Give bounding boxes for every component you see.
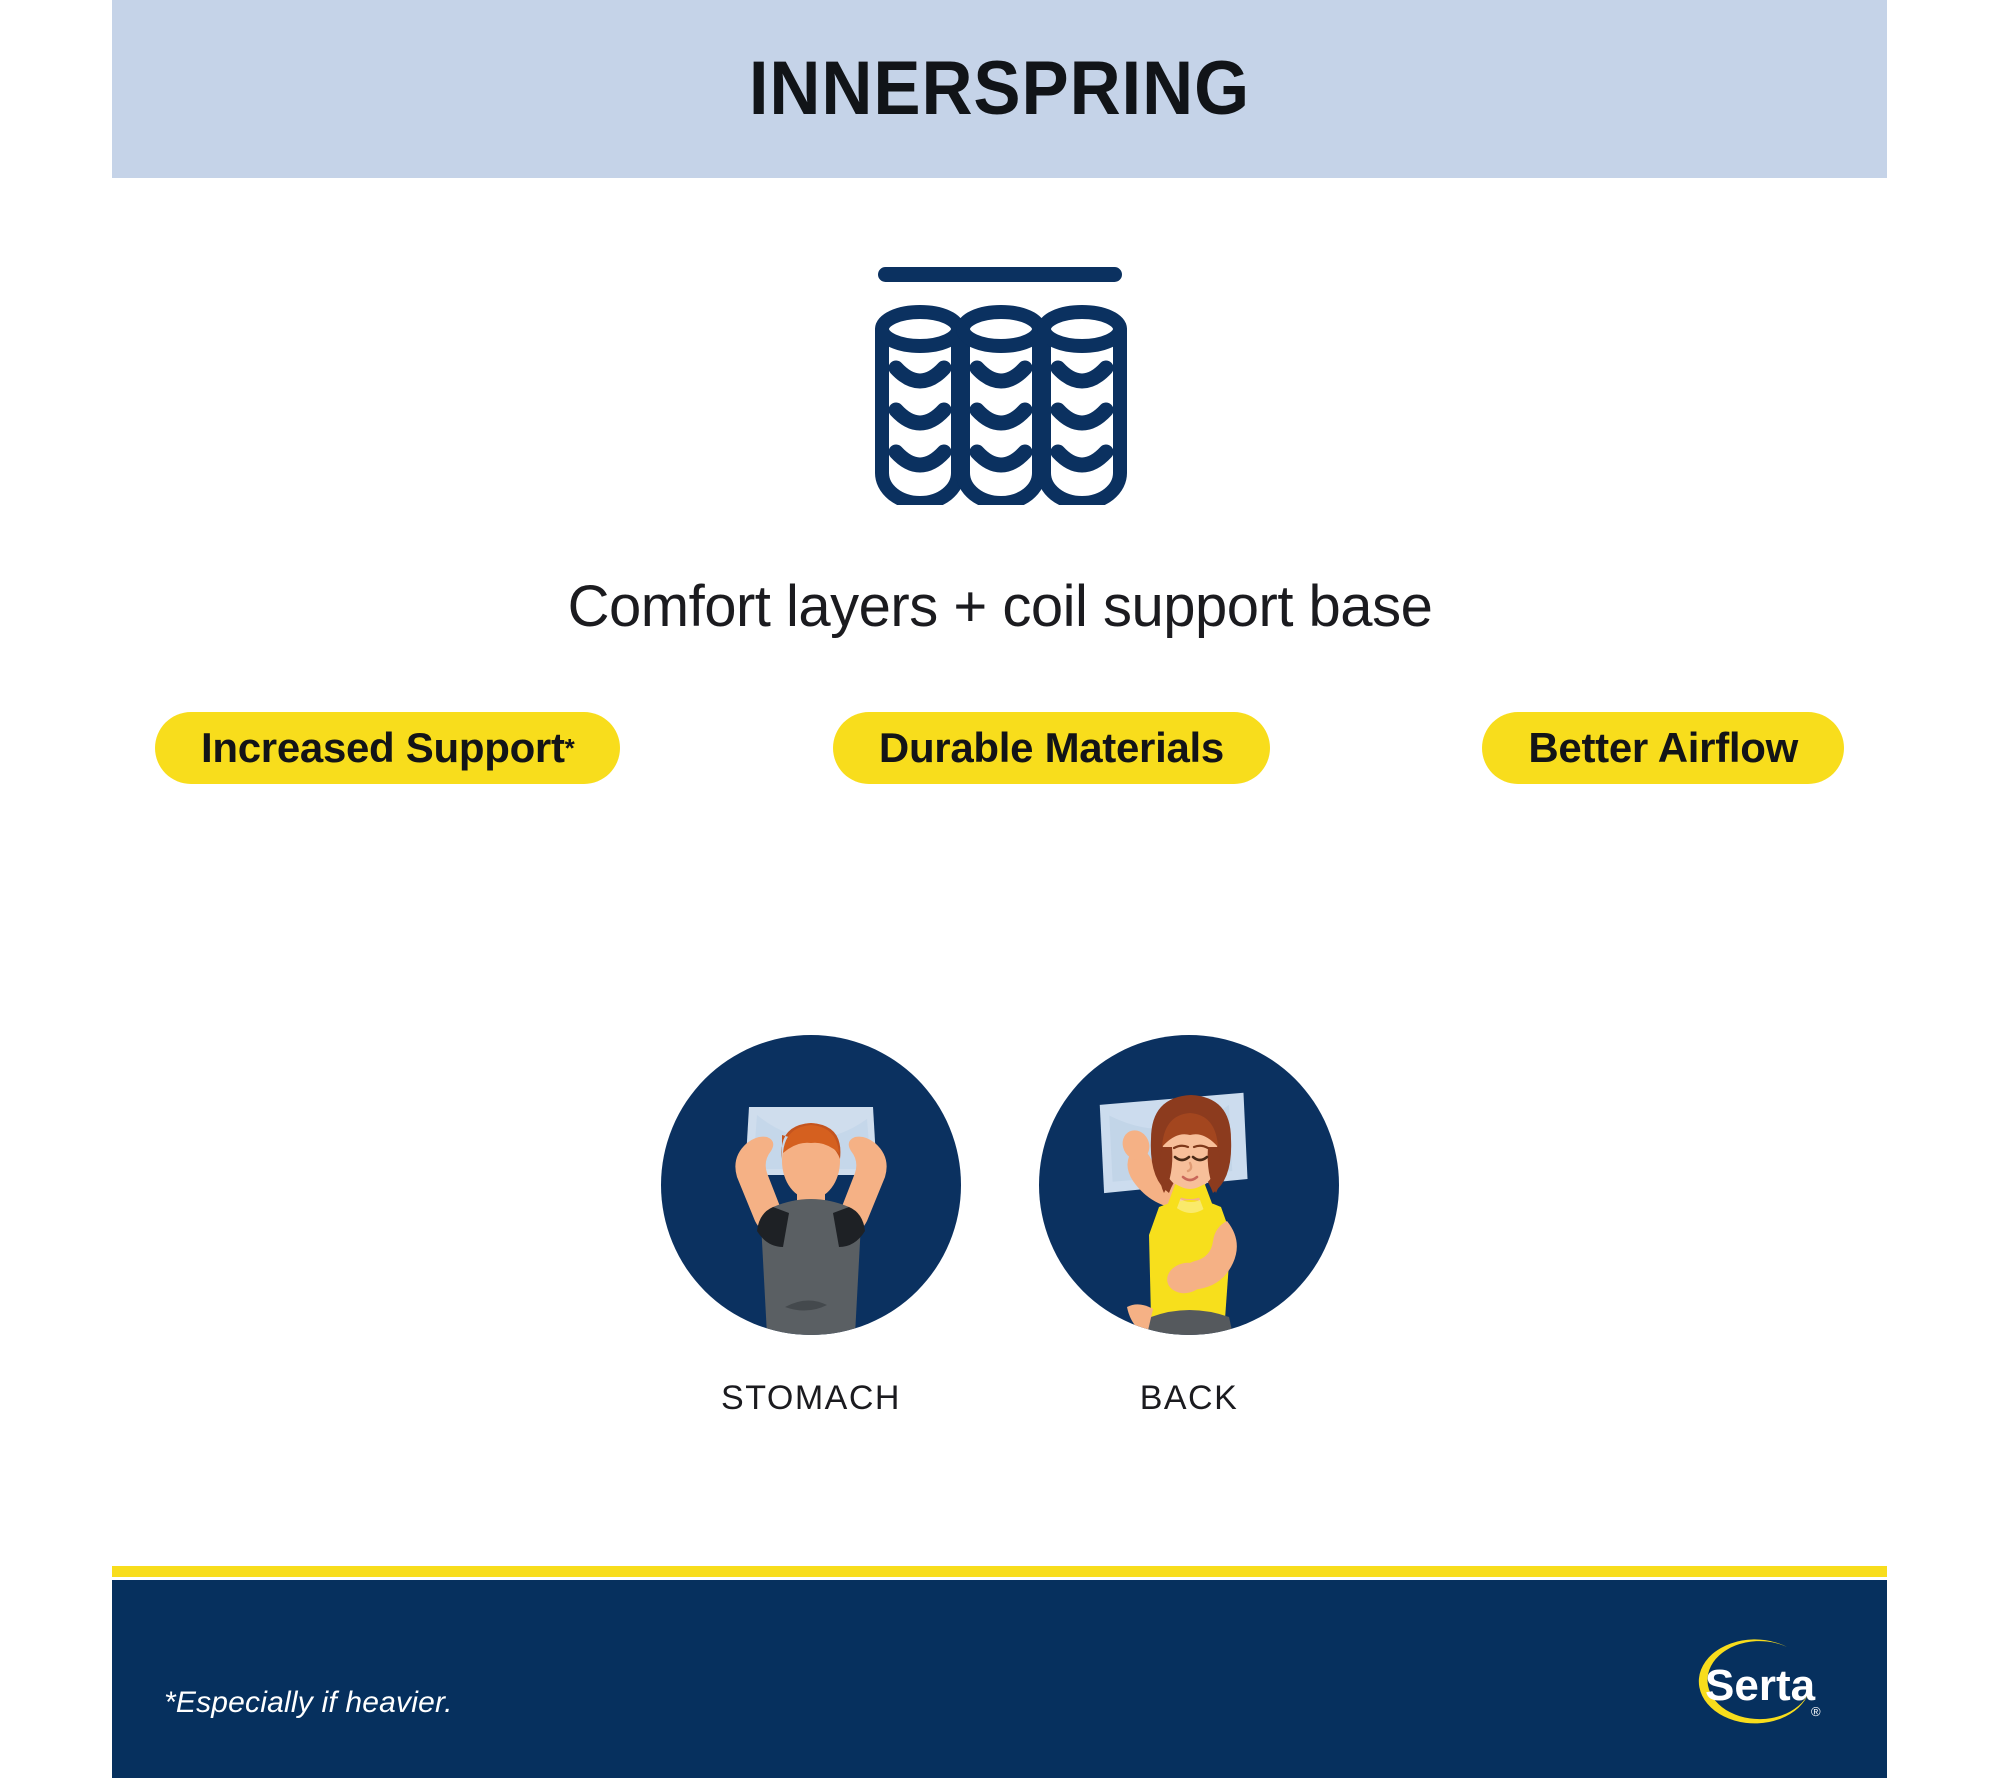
back-sleeper-circle [1039, 1035, 1339, 1335]
sleep-position-stomach: STOMACH [661, 1035, 961, 1418]
subtitle-container: Comfort layers + coil support base [0, 575, 2000, 639]
feature-pill-label: Increased Support [201, 724, 565, 772]
feature-pills: Increased Support* Durable Materials Bet… [112, 712, 1887, 784]
feature-pill-increased-support[interactable]: Increased Support* [155, 712, 620, 784]
sleep-position-back: BACK [1039, 1035, 1339, 1418]
footnote-text: *Especially if heavier. [164, 1686, 453, 1720]
subtitle-text: Comfort layers + coil support base [568, 575, 1433, 639]
back-sleeper-icon [1039, 1035, 1339, 1335]
feature-pill-label: Durable Materials [879, 724, 1224, 772]
sleep-position-label: BACK [1140, 1379, 1239, 1418]
header-band: INNERSPRING [112, 0, 1887, 178]
registered-trademark-icon: ® [1811, 1704, 1821, 1719]
stomach-sleeper-icon [661, 1035, 961, 1335]
innerspring-coils-icon [870, 255, 1130, 505]
sleep-positions: STOMACH [0, 1035, 2000, 1418]
feature-pill-label: Better Airflow [1528, 724, 1798, 772]
feature-pill-better-airflow[interactable]: Better Airflow [1482, 712, 1844, 784]
serta-wordmark: Serta [1705, 1661, 1816, 1710]
innerspring-icon-container [0, 255, 2000, 505]
page-title: INNERSPRING [749, 51, 1250, 127]
footer-accent-rule [112, 1566, 1887, 1577]
sleep-position-label: STOMACH [721, 1379, 901, 1418]
serta-logo: Serta ® [1669, 1630, 1839, 1740]
stomach-sleeper-circle [661, 1035, 961, 1335]
feature-pill-durable-materials[interactable]: Durable Materials [833, 712, 1270, 784]
footer-band: *Especially if heavier. Serta ® [112, 1580, 1887, 1778]
